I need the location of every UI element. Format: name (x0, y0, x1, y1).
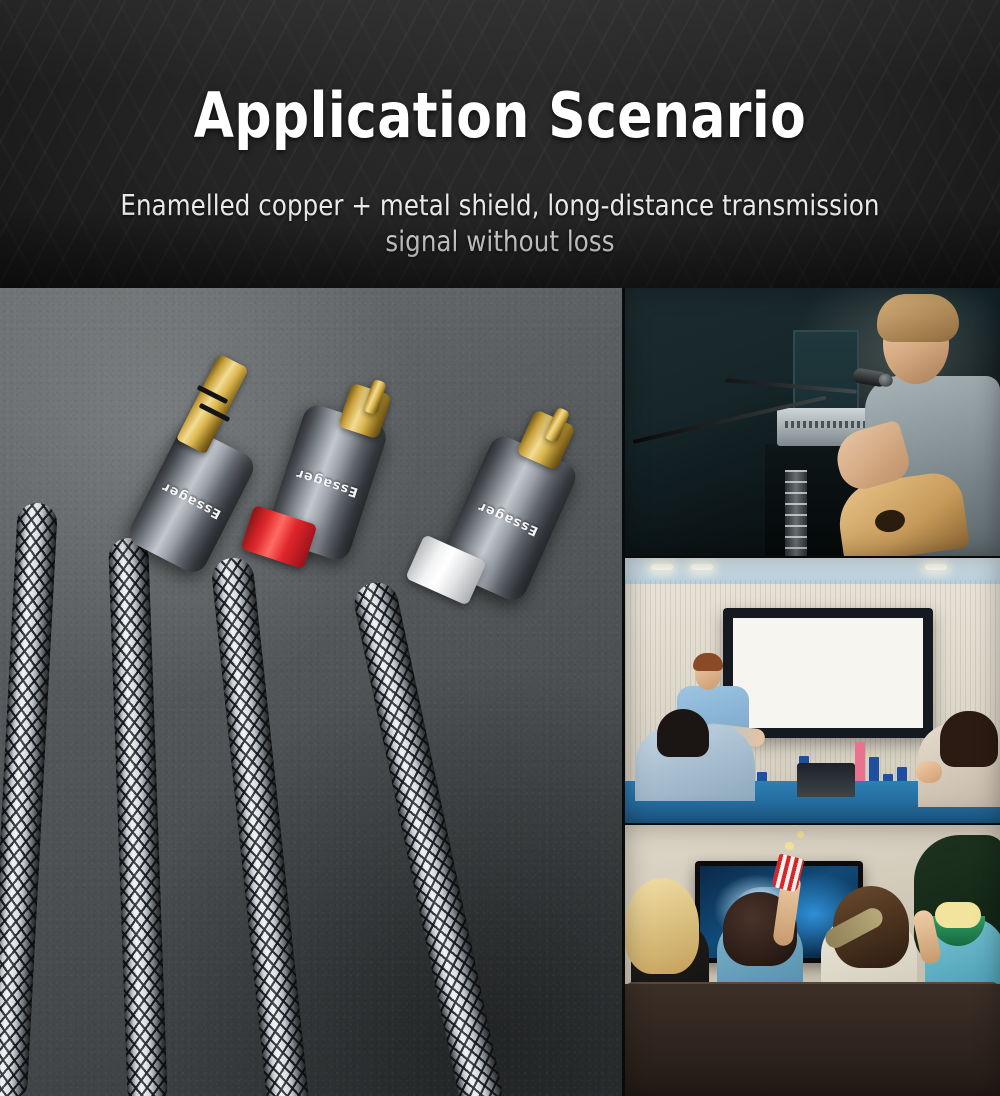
attendee-right-head (940, 711, 998, 767)
product-photo: Essager Essager Essager (0, 288, 622, 1096)
content-area: Essager Essager Essager (0, 288, 1000, 1096)
attendee-hand (916, 761, 942, 783)
popcorn-pile (935, 902, 981, 928)
guitar-frets (785, 470, 807, 556)
couch (625, 984, 1000, 1096)
flying-popcorn (785, 842, 794, 850)
cable-shading (350, 578, 505, 1096)
cable-shading (210, 556, 310, 1096)
subtitle-line-2: signal without loss (23, 224, 978, 260)
viewer-hair-blonde (625, 878, 699, 974)
ceiling-light (651, 564, 673, 570)
page-subtitle: Enamelled copper + metal shield, long-di… (23, 188, 978, 260)
presentation-screen (733, 618, 923, 728)
attendee-left-head (657, 709, 709, 757)
ceiling-light (925, 564, 947, 570)
musician-hair (877, 294, 959, 342)
cable-strand (108, 537, 168, 1096)
scenario-photo-column (625, 288, 1000, 1096)
cable-shading (108, 537, 168, 1096)
header-banner: Application Scenario Enamelled copper + … (0, 0, 1000, 288)
scenario-photo-home-theater (625, 825, 1000, 1096)
cable-shading (0, 502, 58, 1096)
flying-popcorn (797, 831, 804, 838)
scenario-photo-business-meeting (625, 558, 1000, 823)
cable-strand (350, 578, 505, 1096)
ceiling-light (691, 564, 713, 570)
presenter-hair (693, 653, 723, 671)
page-title: Application Scenario (35, 85, 965, 147)
subtitle-line-1: Enamelled copper + metal shield, long-di… (120, 189, 879, 222)
laptop (797, 763, 855, 797)
cable-strand (0, 502, 58, 1096)
jack-gold-tip (176, 354, 249, 455)
scenario-photo-live-music (625, 288, 1000, 556)
cable-strand (210, 556, 310, 1096)
